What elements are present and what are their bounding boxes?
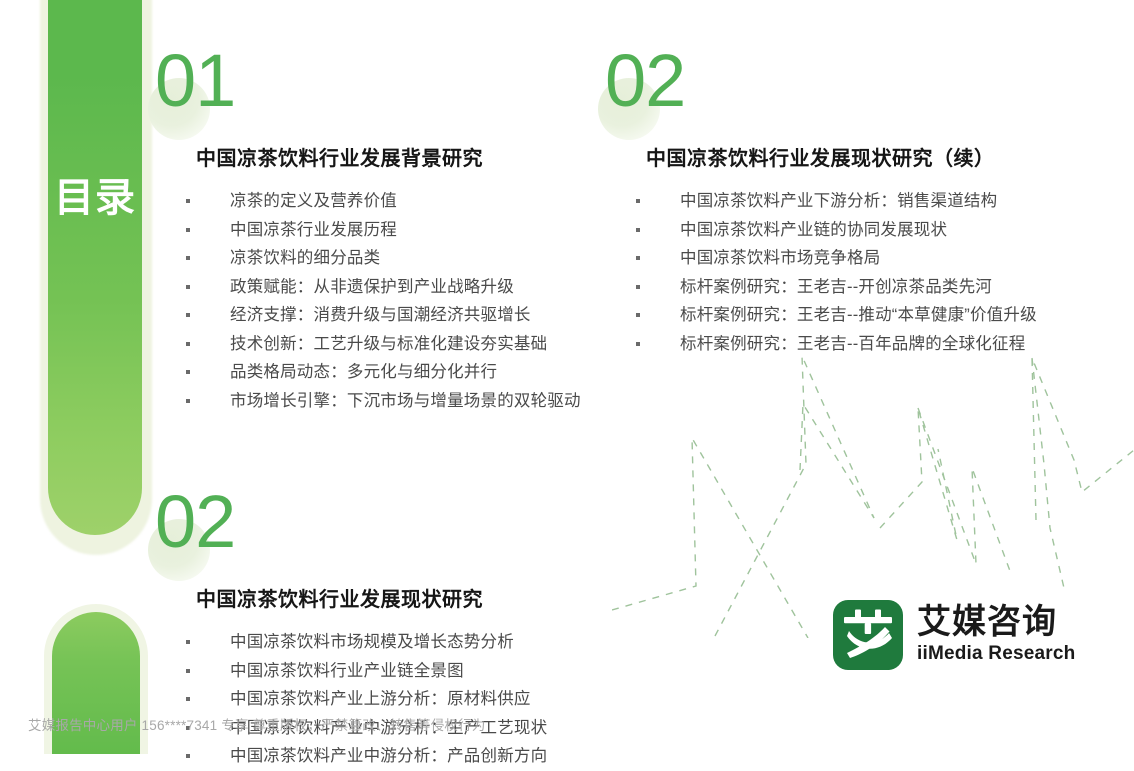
list-item-label: 中国凉茶饮料市场规模及增长态势分析 xyxy=(230,633,514,651)
bullet-icon xyxy=(186,399,190,403)
bullet-icon xyxy=(636,228,640,232)
list-item-label: 中国凉茶饮料产业上游分析：原材料供应 xyxy=(230,690,531,708)
logo-name-en: iiMedia Research xyxy=(917,643,1075,666)
bullet-icon xyxy=(186,285,190,289)
list-item-label: 凉茶饮料的细分品类 xyxy=(230,249,380,267)
bullet-icon xyxy=(186,256,190,260)
iimedia-logo: 艾媒咨询 iiMedia Research xyxy=(833,600,1075,670)
list-item-label: 标杆案例研究：王老吉--开创凉茶品类先河 xyxy=(680,278,992,296)
list-item[interactable]: 中国凉茶饮料产业上游分析：原材料供应 xyxy=(186,685,618,714)
section-01-item-list: 凉茶的定义及营养价值 中国凉茶行业发展历程 凉茶饮料的细分品类 政策赋能：从非遗… xyxy=(186,187,618,415)
bullet-icon xyxy=(186,370,190,374)
logo-mark-icon xyxy=(833,600,903,670)
list-item-label: 中国凉茶饮料行业产业链全景图 xyxy=(230,662,464,680)
list-item[interactable]: 凉茶的定义及营养价值 xyxy=(186,187,618,216)
section-02-left-number-wrap: 02 xyxy=(148,493,618,567)
logo-name-cn: 艾媒咨询 xyxy=(917,604,1075,641)
section-02-left-item-list: 中国凉茶饮料市场规模及增长态势分析 中国凉茶饮料行业产业链全景图 中国凉茶饮料产… xyxy=(186,628,618,771)
section-01-title: 中国凉茶饮料行业发展背景研究 xyxy=(196,142,618,171)
section-02-right[interactable]: 02 中国凉茶饮料行业发展现状研究（续） 中国凉茶饮料产业下游分析：销售渠道结构… xyxy=(598,52,1118,358)
section-02-left-title: 中国凉茶饮料行业发展现状研究 xyxy=(196,583,618,612)
list-item[interactable]: 中国凉茶行业发展历程 xyxy=(186,216,618,245)
section-02-right-title: 中国凉茶饮料行业发展现状研究（续） xyxy=(646,142,1118,171)
list-item-label: 市场增长引擎：下沉市场与增量场景的双轮驱动 xyxy=(230,392,581,410)
bullet-icon xyxy=(636,285,640,289)
list-item[interactable]: 政策赋能：从非遗保护到产业战略升级 xyxy=(186,273,618,302)
list-item[interactable]: 中国凉茶饮料市场竞争格局 xyxy=(636,244,1118,273)
list-item[interactable]: 标杆案例研究：王老吉--开创凉茶品类先河 xyxy=(636,273,1118,302)
bullet-icon xyxy=(636,342,640,346)
list-item-label: 技术创新：工艺升级与标准化建设夯实基础 xyxy=(230,335,547,353)
section-02-left-number: 02 xyxy=(155,485,235,559)
bullet-icon xyxy=(186,342,190,346)
list-item-label: 品类格局动态：多元化与细分化并行 xyxy=(230,363,497,381)
section-02-right-item-list: 中国凉茶饮料产业下游分析：销售渠道结构 中国凉茶饮料产业链的协同发展现状 中国凉… xyxy=(636,187,1118,358)
section-01[interactable]: 01 中国凉茶饮料行业发展背景研究 凉茶的定义及营养价值 中国凉茶行业发展历程 … xyxy=(148,52,618,415)
list-item[interactable]: 技术创新：工艺升级与标准化建设夯实基础 xyxy=(186,330,618,359)
list-item[interactable]: 中国凉茶饮料行业产业链全景图 xyxy=(186,657,618,686)
bullet-icon xyxy=(636,199,640,203)
list-item[interactable]: 标杆案例研究：王老吉--百年品牌的全球化征程 xyxy=(636,330,1118,359)
right-column: 02 中国凉茶饮料行业发展现状研究（续） 中国凉茶饮料产业下游分析：销售渠道结构… xyxy=(598,52,1118,358)
list-item-label: 中国凉茶饮料市场竞争格局 xyxy=(680,249,880,267)
left-column: 01 中国凉茶饮料行业发展背景研究 凉茶的定义及营养价值 中国凉茶行业发展历程 … xyxy=(148,52,618,771)
list-item-label: 中国凉茶饮料产业下游分析：销售渠道结构 xyxy=(680,192,997,210)
bullet-icon xyxy=(186,199,190,203)
logo-glyph-svg xyxy=(833,600,903,670)
bullet-icon xyxy=(186,754,190,758)
list-item-label: 中国凉茶饮料产业链的协同发展现状 xyxy=(680,221,947,239)
section-02-right-number: 02 xyxy=(605,44,685,118)
section-02-right-number-wrap: 02 xyxy=(598,52,1118,126)
footer-copyright-notice: 艾媒报告中心用户 156****7341 专享 尊重版权，严禁篡改、转售等侵权行… xyxy=(28,714,486,734)
list-item-label: 标杆案例研究：王老吉--百年品牌的全球化征程 xyxy=(680,335,1025,353)
list-item-label: 标杆案例研究：王老吉--推动“本草健康”价值升级 xyxy=(680,306,1037,324)
list-item-label: 政策赋能：从非遗保护到产业战略升级 xyxy=(230,278,514,296)
list-item-label: 中国凉茶行业发展历程 xyxy=(230,221,397,239)
list-item[interactable]: 经济支撑：消费升级与国潮经济共驱增长 xyxy=(186,301,618,330)
bullet-icon xyxy=(186,669,190,673)
list-item[interactable]: 标杆案例研究：王老吉--推动“本草健康”价值升级 xyxy=(636,301,1118,330)
bullet-icon xyxy=(186,228,190,232)
bullet-icon xyxy=(186,313,190,317)
bullet-icon xyxy=(186,640,190,644)
list-item[interactable]: 中国凉茶饮料产业链的协同发展现状 xyxy=(636,216,1118,245)
list-item[interactable]: 市场增长引擎：下沉市场与增量场景的双轮驱动 xyxy=(186,387,618,416)
list-item[interactable]: 中国凉茶饮料产业下游分析：销售渠道结构 xyxy=(636,187,1118,216)
bullet-icon xyxy=(186,697,190,701)
list-item-label: 中国凉茶饮料产业中游分析：产品创新方向 xyxy=(230,747,547,765)
list-item-label: 经济支撑：消费升级与国潮经济共驱增长 xyxy=(230,306,531,324)
list-item[interactable]: 品类格局动态：多元化与细分化并行 xyxy=(186,358,618,387)
section-01-number-wrap: 01 xyxy=(148,52,618,126)
bullet-icon xyxy=(636,313,640,317)
logo-text-block: 艾媒咨询 iiMedia Research xyxy=(917,604,1075,666)
bullet-icon xyxy=(636,256,640,260)
section-01-number: 01 xyxy=(155,44,235,118)
list-item[interactable]: 凉茶饮料的细分品类 xyxy=(186,244,618,273)
list-item[interactable]: 中国凉茶饮料产业中游分析：产品创新方向 xyxy=(186,742,618,771)
list-item-label: 凉茶的定义及营养价值 xyxy=(230,192,397,210)
list-item[interactable]: 中国凉茶饮料市场规模及增长态势分析 xyxy=(186,628,618,657)
